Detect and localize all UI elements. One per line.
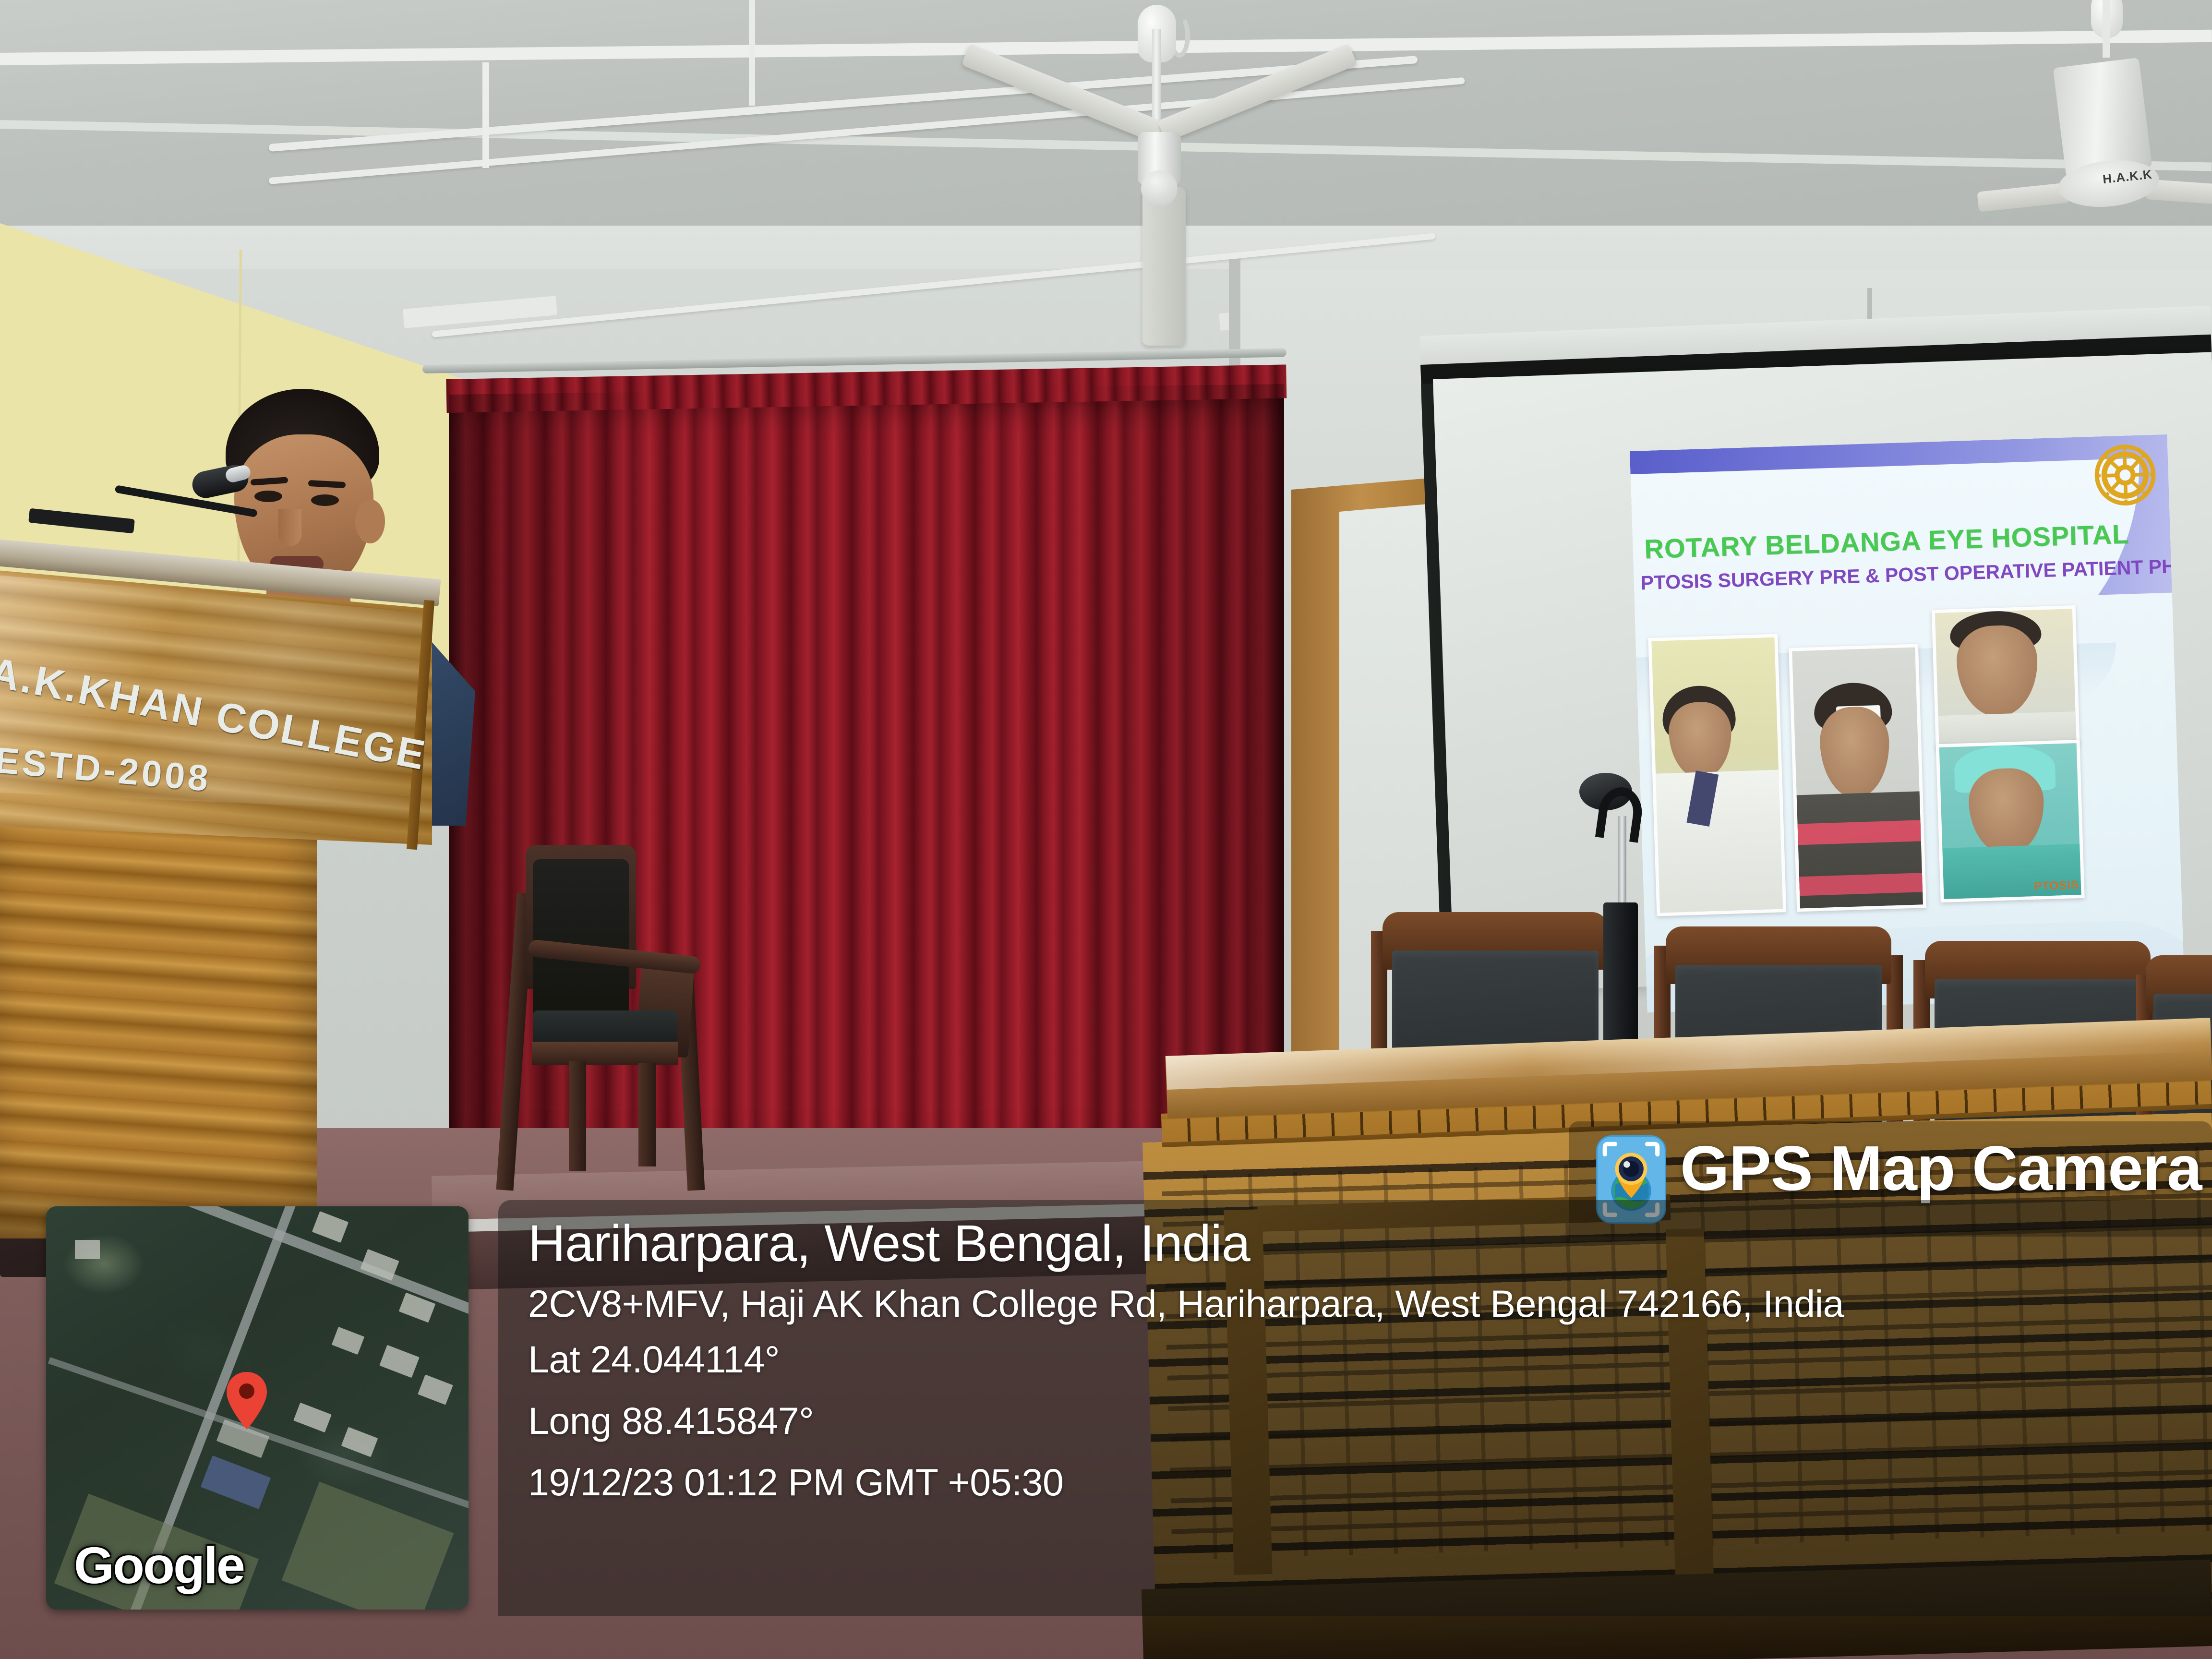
map-pin-icon [224,1370,270,1432]
map-building [75,1240,100,1259]
projected-slide: ROTARY BELDANGA EYE HOSPITAL PTOSIS SURG… [1630,434,2185,1013]
photo-caption: PTOSIS [2034,878,2079,893]
map-building [312,1211,349,1243]
fan-hubcap [1141,170,1178,207]
photo-stripe [1795,820,1923,845]
gps-place-name: Hariharpara, West Bengal, India [528,1214,2160,1273]
map-building [293,1403,332,1432]
chair-leg [638,1063,656,1166]
presenter-eye [254,491,282,502]
watermark-label: GPS Map Camera [1680,1137,2208,1200]
gps-street-address: 2CV8+MFV, Haji AK Khan College Rd, Harih… [528,1279,2160,1329]
lectern: A.K.KHAN COLLEGE ESTD-2008 [0,518,461,1238]
gps-timestamp: 19/12/23 01:12 PM GMT +05:30 [528,1452,2160,1513]
gps-info-text: Hariharpara, West Bengal, India 2CV8+MFV… [528,1214,2160,1513]
gps-latitude: Lat 24.044114° [528,1329,2160,1390]
photo-torso [1651,769,1783,913]
fan-downrod [2103,0,2110,58]
fan-motor [2053,58,2152,178]
ceiling-fan-secondary: H.A.K.K [2007,0,2212,259]
chair-leg [569,1061,586,1171]
slide-photo-grid: PTOSIS [1644,602,2171,921]
photo-face [1819,706,1891,799]
college-established-text: ESTD-2008 [0,739,213,800]
fan-blade [1142,187,1186,346]
photo-face [1956,625,2039,718]
stage-armchair [480,845,730,1200]
map-building [418,1374,453,1405]
google-watermark: Google [74,1535,244,1595]
patient-photo [1789,644,1926,912]
photo-stripe [1796,873,1923,896]
patient-photo [1648,634,1786,916]
patient-photo [1932,605,2080,749]
map-building [341,1427,378,1457]
screenshot-root: H.A.K.K [0,0,2212,1659]
presenter-eye [311,494,339,506]
gooseneck-mic-shaft [1603,902,1638,1056]
map-building [360,1249,399,1281]
fan-blade [961,44,1161,143]
photo-face [1968,767,2045,856]
map-satellite-imagery: Google [46,1206,469,1610]
map-building [201,1455,271,1509]
patient-photo: PTOSIS [1935,740,2084,902]
map-building [332,1327,364,1355]
photo-face [1668,701,1733,780]
map-building [379,1345,420,1378]
map-thumbnail[interactable]: Google [46,1206,469,1610]
conduit-drop [482,62,489,168]
gps-longitude: Long 88.415847° [528,1390,2160,1452]
ceiling-fan [888,0,1320,250]
map-field [282,1482,454,1610]
lectern-signage: A.K.KHAN COLLEGE ESTD-2008 [0,590,422,811]
chair-back-cushion [533,859,629,1018]
rotary-wheel-icon [2093,444,2157,507]
chair-apron [532,1042,678,1065]
conduit-drop [749,0,755,106]
